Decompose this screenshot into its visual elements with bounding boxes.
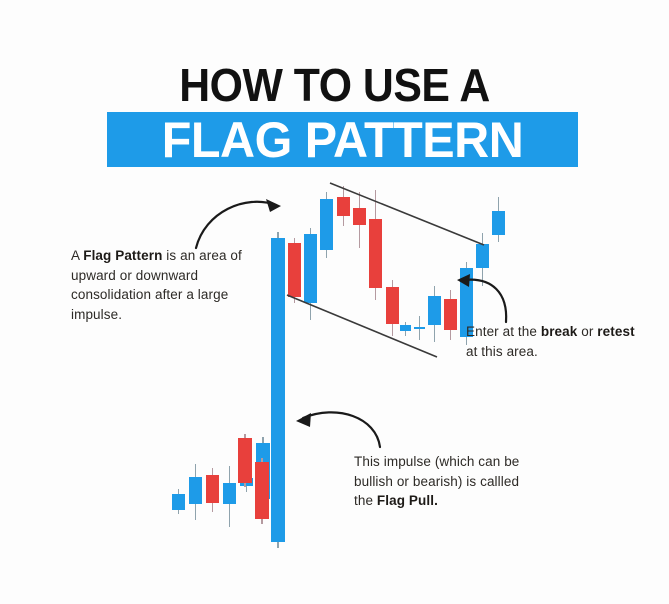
- body-text: at this area.: [466, 344, 538, 359]
- arrow-to-flag-head: [266, 199, 281, 212]
- arrow-to-entry-curve: [464, 280, 506, 322]
- infographic-canvas: HOW TO USE A FLAG PATTERN A Flag Pattern…: [0, 0, 669, 604]
- note-flag-pull-description: This impulse (which can be bullish or be…: [354, 452, 540, 511]
- arrow-to-flag: [196, 199, 281, 248]
- arrow-to-impulse-head: [296, 413, 311, 427]
- trendline-lower-support: [287, 295, 437, 357]
- note-flag-pattern-definition: A Flag Pattern is an area of upward or d…: [71, 246, 247, 324]
- arrow-to-impulse: [296, 412, 380, 447]
- body-text: A: [71, 248, 83, 263]
- arrow-to-entry-head: [457, 274, 470, 287]
- arrow-to-entry: [457, 274, 506, 322]
- emphasis-text: retest: [597, 324, 634, 339]
- emphasis-text: Flag Pull.: [377, 493, 438, 508]
- body-text: Enter at the: [466, 324, 541, 339]
- body-text: or: [577, 324, 597, 339]
- arrow-to-flag-curve: [196, 202, 276, 248]
- trendline-upper-resistance: [330, 183, 484, 245]
- arrow-to-impulse-curve: [303, 412, 380, 447]
- emphasis-text: break: [541, 324, 578, 339]
- emphasis-text: Flag Pattern: [83, 248, 162, 263]
- flag-trendlines: [287, 183, 484, 357]
- note-entry-instructions: Enter at the break or retest at this are…: [466, 322, 646, 361]
